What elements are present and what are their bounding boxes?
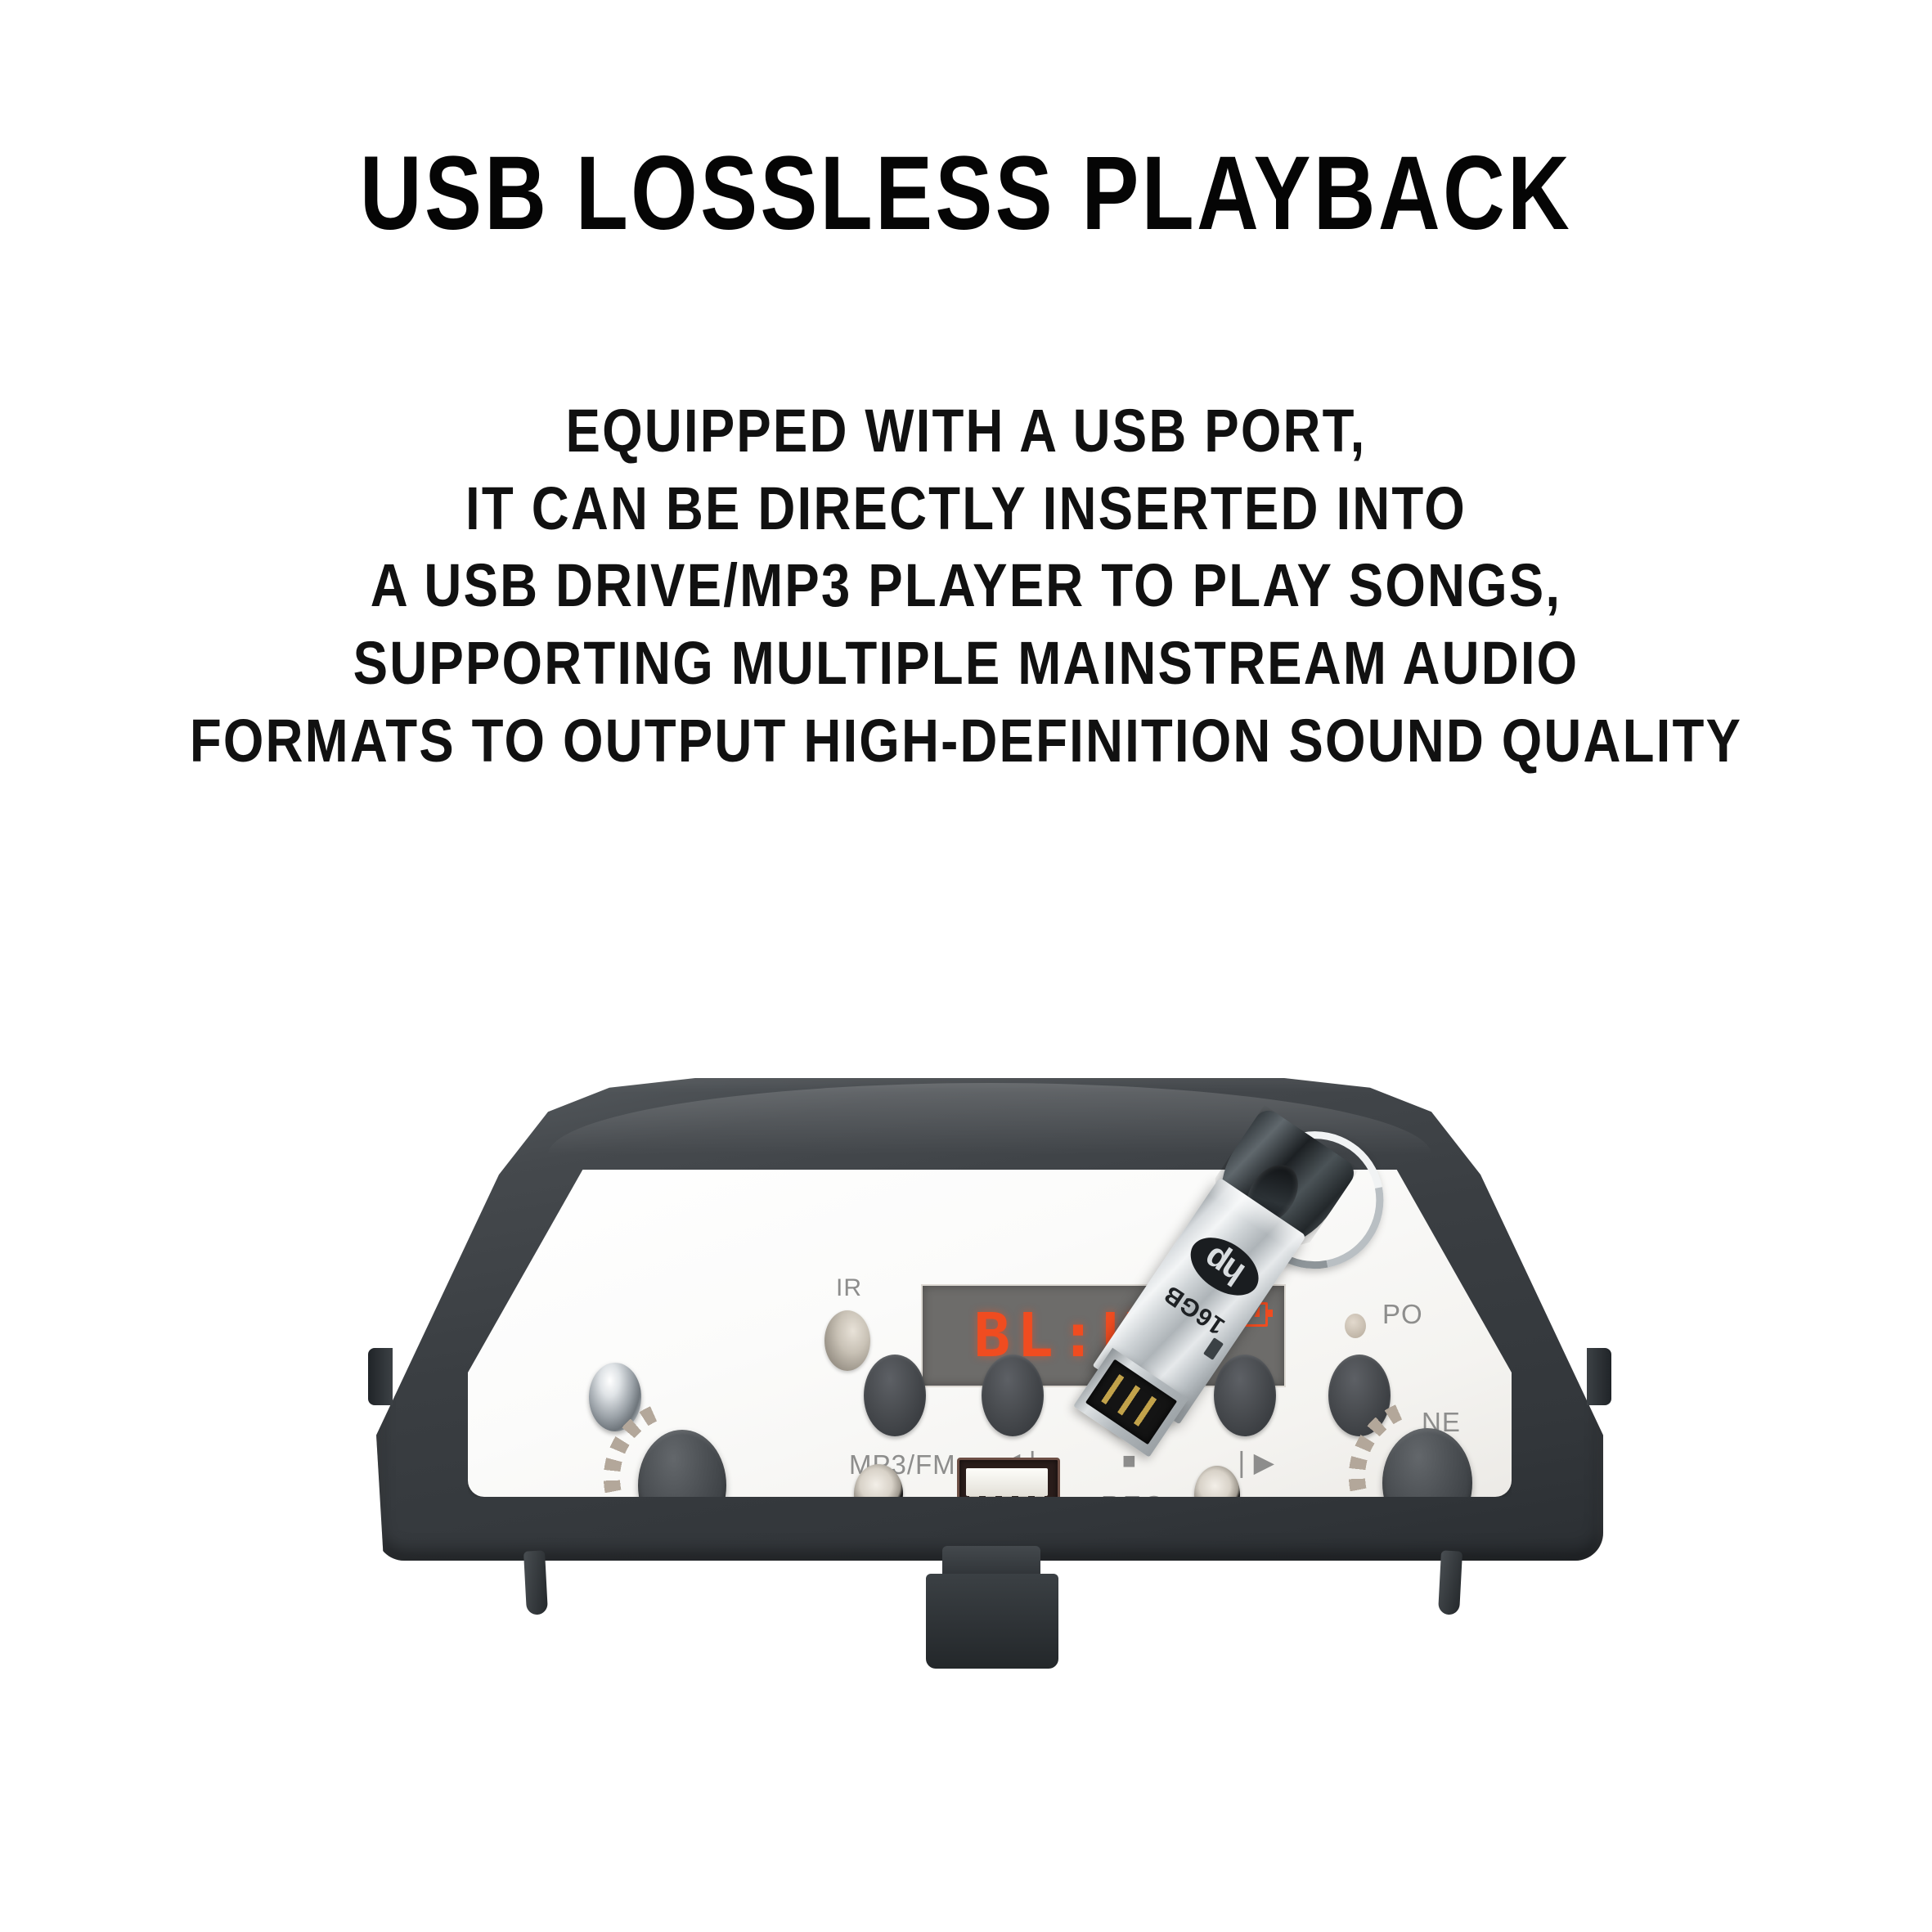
power-led-icon	[1345, 1314, 1366, 1338]
battery-flap	[926, 1574, 1058, 1669]
description-line-3: A USB DRIVE/MP3 PLAYER TO PLAY SONGS,	[135, 547, 1796, 625]
usb-port-tongue	[966, 1468, 1048, 1496]
control-faceplate: IR BL:UE ↻ MP3/FM ◀❘ ■ ❘▶ REC PO NE	[468, 1170, 1512, 1497]
battery-icon	[1227, 1302, 1268, 1327]
previous-track-button[interactable]	[982, 1355, 1044, 1436]
speaker-foot-left	[523, 1550, 548, 1615]
shell-right-nub	[1587, 1348, 1611, 1405]
ir-sensor-icon	[824, 1310, 870, 1371]
speaker-foot-right	[1438, 1550, 1462, 1615]
headline-block: USB LOSSLESS PLAYBACK	[0, 139, 1932, 249]
description-line-4: SUPPORTING MULTIPLE MAINSTREAM AUDIO	[135, 625, 1796, 703]
record-stop-icon: ■	[1122, 1448, 1137, 1474]
description-line-5: FORMATS TO OUTPUT HIGH-DEFINITION SOUND …	[135, 703, 1796, 780]
description-line-2: IT CAN BE DIRECTLY INSERTED INTO	[135, 470, 1796, 548]
next-track-button[interactable]	[1214, 1355, 1276, 1436]
speaker-product-image: IR BL:UE ↻ MP3/FM ◀❘ ■ ❘▶ REC PO NE	[376, 1078, 1603, 1700]
mp3-fm-button[interactable]	[864, 1355, 926, 1436]
battery-level-bars	[1232, 1307, 1260, 1317]
description-block: EQUIPPED WITH A USB PORT, IT CAN BE DIRE…	[0, 393, 1932, 780]
record-button[interactable]	[1098, 1355, 1160, 1436]
switch-off-label: OFF	[1290, 1561, 1338, 1587]
page-title: USB LOSSLESS PLAYBACK	[174, 139, 1759, 249]
power-label: PO	[1382, 1299, 1423, 1330]
ir-label: IR	[836, 1274, 862, 1302]
description-line-1: EQUIPPED WITH A USB PORT,	[135, 393, 1796, 470]
next-track-icon: ❘▶	[1230, 1446, 1275, 1478]
shell-left-nub	[368, 1348, 393, 1405]
